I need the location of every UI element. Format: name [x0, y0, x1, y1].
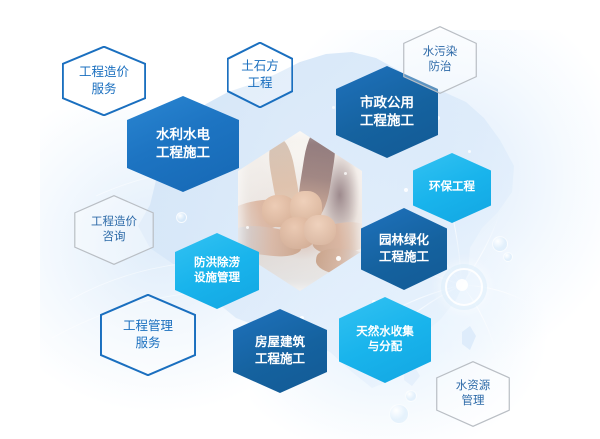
hexagon-label-line: 市政公用: [360, 94, 414, 112]
hexagon-label-line: 工程施工: [255, 351, 305, 368]
hexagon-label-line: 服务: [79, 81, 129, 98]
hexagon-label: 房屋建筑工程施工: [251, 334, 309, 368]
hex-landscaping-engineering-construction[interactable]: 园林绿化工程施工: [361, 208, 447, 290]
hexagon-label-line: 房屋建筑: [255, 334, 305, 351]
hex-water-conservancy-hydropower-construction[interactable]: 水利水电工程施工: [127, 96, 239, 192]
network-node-icon: [445, 268, 483, 306]
hex-engineering-cost-consulting[interactable]: 工程造价咨询: [74, 195, 154, 265]
hexagon-label: 土石方工程: [237, 58, 283, 92]
hexagon-label: 防洪除涝设施管理: [190, 256, 244, 287]
hexagon-label: 环保工程: [425, 180, 479, 195]
hexagon-label-line: 服务: [123, 335, 173, 352]
hexagon-label-line: 防洪除涝: [194, 256, 240, 271]
hexagon-label-line: 工程管理: [123, 318, 173, 335]
hex-water-resources-management[interactable]: 水资源管理: [436, 361, 510, 427]
hexagon-label-line: 咨询: [91, 230, 137, 245]
hexagon-label-line: 土石方: [241, 58, 279, 75]
hexagon-label-line: 天然水收集: [356, 325, 414, 340]
hex-engineering-management-service[interactable]: 工程管理服务: [100, 294, 196, 376]
hexagon-label: 工程管理服务: [119, 318, 177, 352]
hexagon-label-line: 设施管理: [194, 271, 240, 286]
hexagon-label: 工程造价咨询: [87, 215, 141, 246]
hexagon-label-line: 管理: [456, 394, 491, 409]
hex-natural-water-collection-distribution[interactable]: 天然水收集与分配: [339, 297, 431, 383]
hexagon-label-line: 工程: [241, 75, 279, 92]
hexagon-label-line: 园林绿化: [379, 232, 429, 249]
hexagon-label: 园林绿化工程施工: [375, 232, 433, 266]
hexagon-label-line: 防治: [423, 60, 458, 75]
hexagon-label-line: 水利水电: [156, 126, 210, 144]
hexagon-label-line: 水资源: [456, 379, 491, 394]
hexagon-label: 水污染防治: [419, 45, 462, 76]
hex-building-construction[interactable]: 房屋建筑工程施工: [233, 309, 327, 393]
hexagon-label-line: 工程施工: [360, 112, 414, 130]
hexagon-label: 市政公用工程施工: [356, 94, 418, 130]
hexagon-label-line: 工程施工: [379, 249, 429, 266]
hex-water-pollution-control[interactable]: 水污染防治: [403, 26, 477, 94]
hexagon-label: 水资源管理: [452, 379, 495, 410]
hexagon-label-line: 环保工程: [429, 180, 475, 195]
hexagon-label-line: 水污染: [423, 45, 458, 60]
hexagon-label: 水利水电工程施工: [152, 126, 214, 162]
hexagon-label-line: 工程造价: [91, 215, 137, 230]
hexagon-label: 工程造价服务: [75, 64, 133, 98]
infographic-canvas: 工程造价服务土石方工程水利水电工程施工市政公用工程施工水污染防治环保工程工程造价…: [0, 0, 600, 439]
hexagon-label: 天然水收集与分配: [352, 325, 418, 356]
hexagon-label-line: 工程造价: [79, 64, 129, 81]
hexagon-label-line: 工程施工: [156, 144, 210, 162]
hexagon-label-line: 与分配: [356, 340, 414, 355]
